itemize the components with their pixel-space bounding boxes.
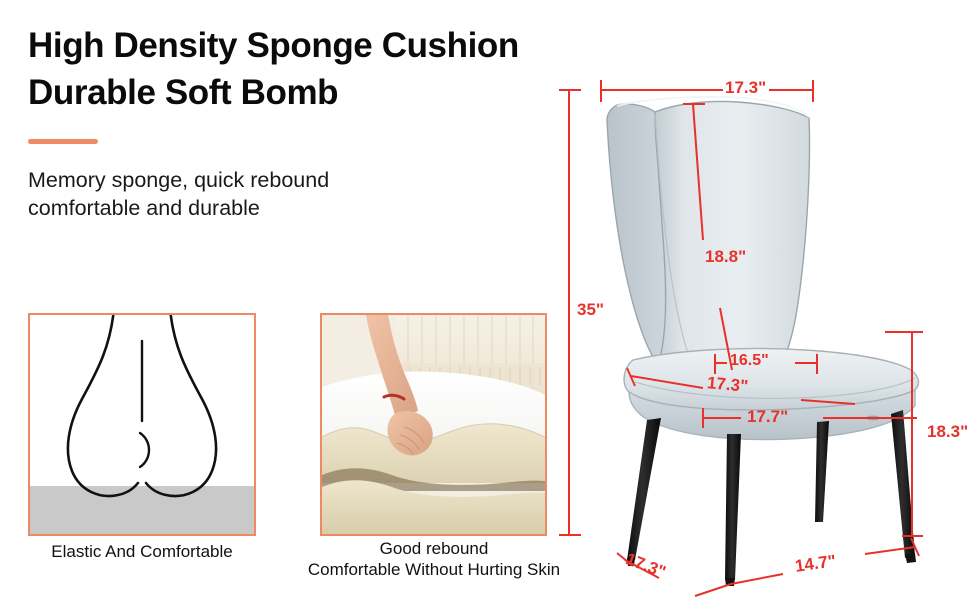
accent-divider	[28, 139, 98, 144]
feature-panel-rebound-caption-line-1: Good rebound	[275, 538, 593, 559]
dimension-label-backrest-width: 17.3"	[725, 78, 766, 98]
page-subtitle-line-1: Memory sponge, quick rebound	[28, 166, 498, 194]
dimension-label-seat-height: 18.3"	[927, 422, 968, 442]
dimension-label-seat-diagonal: 17.3"	[706, 373, 749, 397]
feature-panel-rebound-caption: Good rebound Comfortable Without Hurting…	[275, 538, 593, 580]
page-subtitle-line-2: comfortable and durable	[28, 194, 498, 222]
feature-panel-elastic	[28, 313, 256, 536]
hand-pressing-foam-illustration	[322, 315, 545, 534]
product-infographic: High Density Sponge Cushion Durable Soft…	[0, 0, 970, 600]
page-subtitle: Memory sponge, quick rebound comfortable…	[28, 166, 498, 222]
feature-panel-rebound	[320, 313, 547, 536]
dimension-label-backrest-height: 18.8"	[705, 247, 746, 267]
body-silhouette-icon	[30, 315, 254, 534]
dimension-label-overall-height: 35"	[577, 300, 604, 320]
feature-panel-elastic-caption: Elastic And Comfortable	[10, 541, 274, 562]
dimension-label-seat-depth: 16.5"	[730, 352, 769, 370]
dimension-label-seat-width: 17.7"	[747, 407, 788, 427]
chair-drawing	[555, 60, 970, 600]
feature-panel-rebound-caption-line-2: Comfortable Without Hurting Skin	[275, 559, 593, 580]
chair-dimension-diagram: 17.3" 18.8" 16.5" 17.3" 17.7" 35" 18.3" …	[555, 60, 970, 600]
